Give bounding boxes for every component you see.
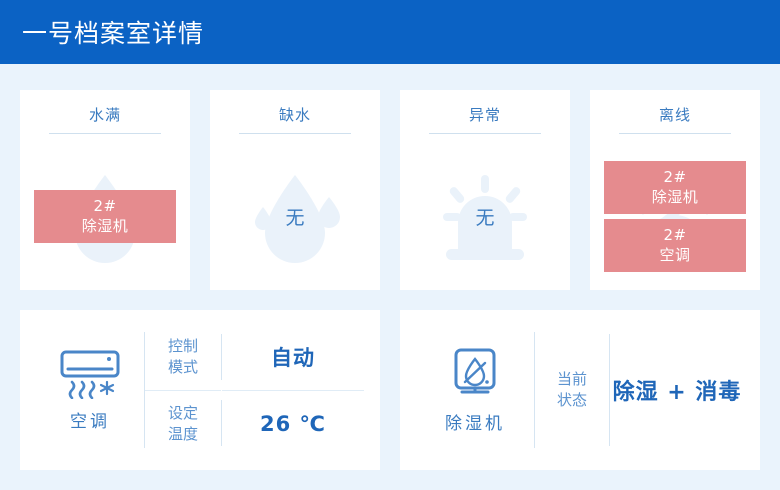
status-card-title: 缺水: [210, 104, 380, 125]
device-property-row: 设定 温度 26 ℃: [145, 390, 364, 456]
badge-line-2: 除湿机: [34, 216, 176, 236]
alert-badge-list: 2# 除湿机 2# 空调: [604, 161, 746, 272]
property-value: 除湿 + 消毒: [610, 324, 744, 456]
alert-badge[interactable]: 2# 除湿机: [604, 161, 746, 214]
status-card-water-shortage[interactable]: 缺水 无: [210, 90, 380, 290]
status-card-row: 水满 2# 除湿机 缺水: [20, 90, 760, 290]
property-label: 设定 温度: [145, 390, 221, 456]
property-label-line-2: 温度: [168, 424, 198, 445]
property-label: 控制 模式: [145, 324, 221, 390]
alert-badge[interactable]: 2# 空调: [604, 219, 746, 272]
title-divider: [429, 133, 541, 134]
status-card-body: 无: [210, 142, 380, 290]
status-card-body: 无: [400, 142, 570, 290]
app-root: 一号档案室详情 水满 2# 除湿机: [0, 0, 780, 490]
status-card-water-full[interactable]: 水满 2# 除湿机: [20, 90, 190, 290]
status-card-body: 2# 除湿机 2# 空调: [590, 142, 760, 290]
air-conditioner-icon: [59, 349, 121, 399]
status-value-none: 无: [475, 203, 494, 230]
device-property-table: 当前 状态 除湿 + 消毒: [535, 324, 744, 456]
property-value: 自动: [222, 324, 364, 390]
property-label: 当前 状态: [535, 324, 609, 456]
property-value: 26 ℃: [222, 390, 364, 456]
device-identity: 空调: [36, 324, 144, 456]
badge-line-1: 2#: [34, 196, 176, 216]
property-label-line-2: 模式: [168, 357, 198, 378]
alert-badge[interactable]: 2# 除湿机: [34, 190, 176, 243]
status-card-offline[interactable]: 离线 2# 除湿机 2# 空调: [590, 90, 760, 290]
dehumidifier-icon: [448, 347, 502, 401]
title-divider: [619, 133, 731, 134]
status-card-title: 水满: [20, 104, 190, 125]
property-label-line-1: 当前: [557, 369, 587, 390]
badge-line-1: 2#: [604, 167, 746, 187]
status-card-body: 2# 除湿机: [20, 142, 190, 290]
alert-badge-list: 2# 除湿机: [34, 190, 176, 243]
device-panel-row: 空调 控制 模式 自动 设定: [20, 310, 760, 470]
device-name: 除湿机: [445, 409, 505, 434]
device-name: 空调: [70, 407, 110, 432]
device-identity: 除湿机: [416, 324, 534, 456]
status-value-none: 无: [285, 203, 304, 230]
device-panel-dehumidifier[interactable]: 除湿机 当前 状态 除湿 + 消毒: [400, 310, 760, 470]
property-label-line-2: 状态: [557, 390, 587, 411]
property-label-line-1: 控制: [168, 336, 198, 357]
property-label-line-1: 设定: [168, 403, 198, 424]
status-card-abnormal[interactable]: 异常 无: [400, 90, 570, 290]
status-card-title: 异常: [400, 104, 570, 125]
device-property-table: 控制 模式 自动 设定 温度 26 ℃: [145, 324, 364, 456]
page-header: 一号档案室详情: [0, 0, 780, 64]
badge-line-2: 除湿机: [604, 187, 746, 207]
page-title: 一号档案室详情: [22, 14, 204, 50]
status-card-title: 离线: [590, 104, 760, 125]
title-divider: [239, 133, 351, 134]
title-divider: [49, 133, 161, 134]
device-panel-air-conditioner[interactable]: 空调 控制 模式 自动 设定: [20, 310, 380, 470]
badge-line-2: 空调: [604, 245, 746, 265]
device-property-row: 控制 模式 自动: [145, 324, 364, 390]
device-property-row: 当前 状态 除湿 + 消毒: [535, 324, 744, 456]
badge-line-1: 2#: [604, 225, 746, 245]
